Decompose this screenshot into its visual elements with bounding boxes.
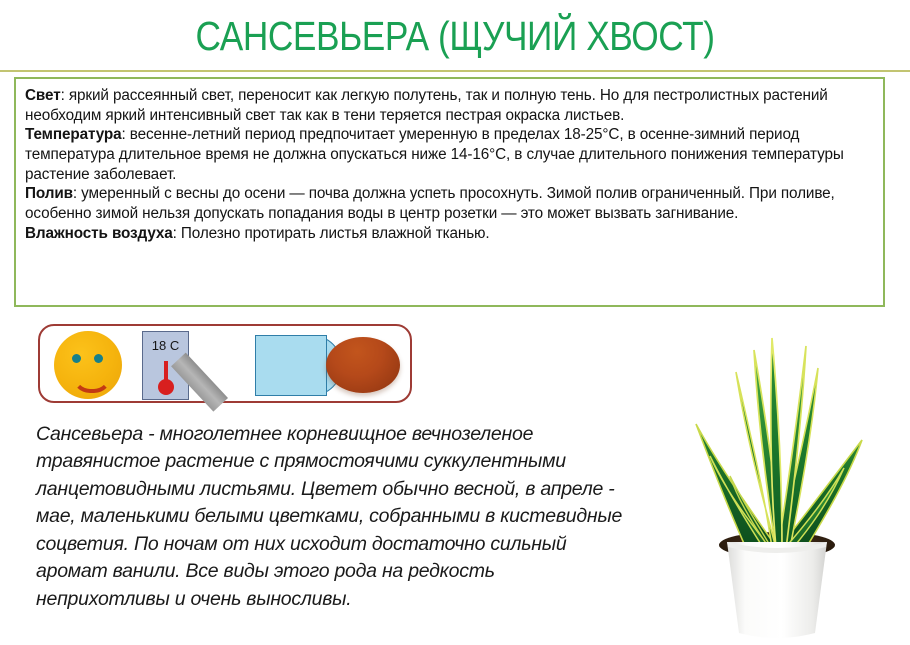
sansevieria-plant-photo [666, 328, 898, 640]
smiley-eye-right [94, 354, 103, 363]
care-humidity-label: Влажность воздуха [25, 225, 173, 242]
care-icons-panel: 18 C [38, 324, 412, 403]
care-watering-text: : умеренный с весны до осени — почва дол… [25, 185, 835, 222]
page-title: САНСЕВЬЕРА (ЩУЧИЙ ХВОСТ) [64, 14, 847, 59]
thermometer-bulb [158, 379, 174, 395]
smiley-face-icon [54, 331, 122, 399]
watering-can-body [255, 335, 327, 396]
care-humidity-text: : Полезно протирать листья влажной ткань… [173, 225, 490, 242]
title-divider [0, 70, 910, 72]
smiley-eye-left [72, 354, 81, 363]
care-temperature: Температура: весенне-летний период предп… [25, 125, 874, 184]
care-humidity: Влажность воздуха: Полезно протирать лис… [25, 224, 874, 244]
care-light-text: : яркий рассеянный свет, переносит как л… [25, 87, 828, 124]
care-light-label: Свет [25, 87, 61, 104]
care-watering: Полив: умеренный с весны до осени — почв… [25, 184, 874, 223]
care-watering-label: Полив [25, 185, 73, 202]
care-instructions-box: Свет: яркий рассеянный свет, переносит к… [14, 77, 885, 307]
soil-icon [326, 337, 400, 393]
thermometer-value: 18 C [142, 338, 189, 353]
plant-illustration [666, 328, 898, 640]
plant-description: Сансевьера - многолетнее корневищное веч… [36, 421, 631, 613]
care-light: Свет: яркий рассеянный свет, переносит к… [25, 86, 874, 125]
watering-can-icon [208, 332, 344, 399]
care-temperature-text: : весенне-летний период предпочитает уме… [25, 126, 844, 182]
care-temperature-label: Температура [25, 126, 122, 143]
